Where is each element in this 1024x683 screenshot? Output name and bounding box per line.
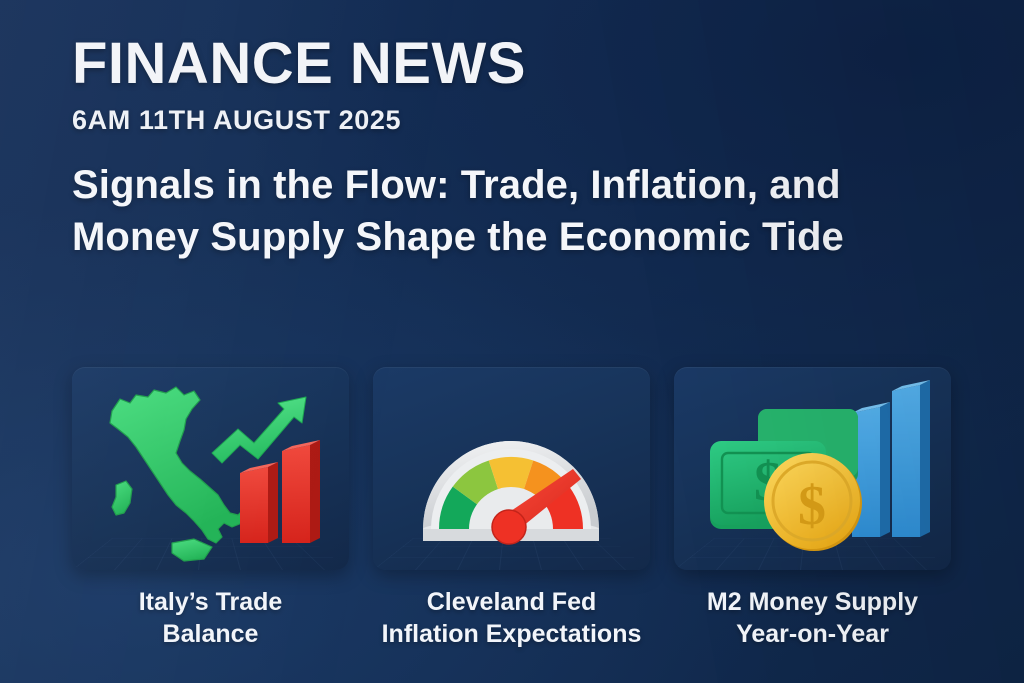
caption-cleveland-fed-inflation: Cleveland Fed Inflation Expectations [373, 586, 650, 650]
headline: Signals in the Flow: Trade, Inflation, a… [72, 159, 872, 263]
red-bar-chart [240, 440, 320, 543]
page-title: FINANCE NEWS [72, 34, 952, 94]
caption-line-1: Italy’s Trade [72, 586, 349, 618]
caption-m2-money-supply: M2 Money Supply Year-on-Year [674, 586, 951, 650]
caption-row: Italy’s Trade Balance Cleveland Fed Infl… [72, 586, 952, 650]
gauge-meter-icon [373, 367, 650, 570]
caption-line-1: Cleveland Fed [373, 586, 650, 618]
italy-map [110, 387, 248, 561]
dateline: 6AM 11TH AUGUST 2025 [72, 105, 952, 135]
dollar-sign-coin: $ [798, 475, 826, 537]
card-row: $ $ [72, 367, 952, 570]
finance-news-graphic: FINANCE NEWS 6AM 11TH AUGUST 2025 Signal… [0, 0, 1024, 683]
card-italy-trade-balance[interactable] [72, 367, 349, 570]
header-block: FINANCE NEWS 6AM 11TH AUGUST 2025 Signal… [72, 34, 952, 263]
caption-line-2: Inflation Expectations [373, 618, 650, 650]
caption-line-1: M2 Money Supply [674, 586, 951, 618]
italy-map-bar-chart-arrow-icon [72, 367, 349, 570]
caption-italy-trade-balance: Italy’s Trade Balance [72, 586, 349, 650]
money-banknote-coin-bars-icon: $ $ [674, 367, 951, 570]
card-m2-money-supply[interactable]: $ $ [674, 367, 951, 570]
blue-bar-chart [852, 380, 930, 537]
card-cleveland-fed-inflation[interactable] [373, 367, 650, 570]
caption-line-2: Balance [72, 618, 349, 650]
caption-line-2: Year-on-Year [674, 618, 951, 650]
